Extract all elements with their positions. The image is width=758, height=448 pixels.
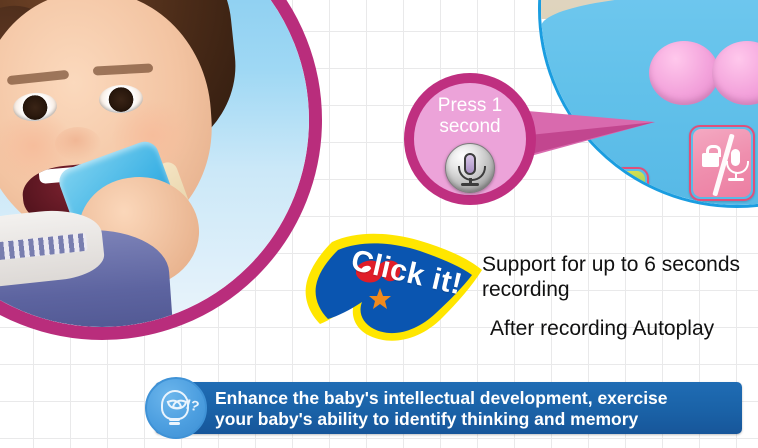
- lock-mic-tile[interactable]: [689, 125, 755, 201]
- bow-lobe-center: [712, 41, 758, 105]
- benefit-line-1: Enhance the baby's intellectual developm…: [215, 388, 668, 408]
- microphone-base: [461, 183, 479, 186]
- feature-text-recording-length: Support for up to 6 seconds recording: [482, 252, 742, 302]
- baby-photo-image: [0, 0, 309, 327]
- microphone-arc-icon: [726, 161, 749, 174]
- microphone-arc: [458, 166, 486, 181]
- click-it-badge[interactable]: Click it!: [296, 228, 488, 346]
- press-duration-label: Press 1second: [418, 95, 522, 137]
- picture-tile-1[interactable]: [583, 167, 649, 208]
- benefit-line-2: your baby's ability to identify thinking…: [215, 409, 638, 429]
- baby-nose: [55, 127, 101, 161]
- lock-mic-tile-face: [693, 129, 751, 197]
- bow-lobe-left: [649, 41, 719, 105]
- lock-mic-glyphs: [693, 129, 751, 197]
- baby-photo: [0, 0, 322, 340]
- child-illustration-icon: [609, 191, 625, 207]
- picture-tile-1-art: [587, 171, 645, 208]
- lightbulb-icon: !?: [145, 377, 207, 439]
- benefit-banner-text: Enhance the baby's intellectual developm…: [215, 388, 734, 430]
- pink-bow-button[interactable]: [649, 41, 758, 105]
- lock-icon: [702, 153, 719, 167]
- feature-text-autoplay: After recording Autoplay: [490, 316, 758, 341]
- benefit-banner: !? Enhance the baby's intellectual devel…: [155, 382, 742, 434]
- microphone-base-icon: [728, 178, 744, 181]
- baby-learning-phone: [538, 0, 758, 208]
- exclaim-question-icon: !?: [184, 396, 201, 415]
- press-duration-callout: Press 1second: [404, 73, 536, 205]
- microphone-icon[interactable]: [445, 143, 495, 193]
- promo-banner-stage: Press 1second Click it! Support for up t…: [0, 0, 758, 448]
